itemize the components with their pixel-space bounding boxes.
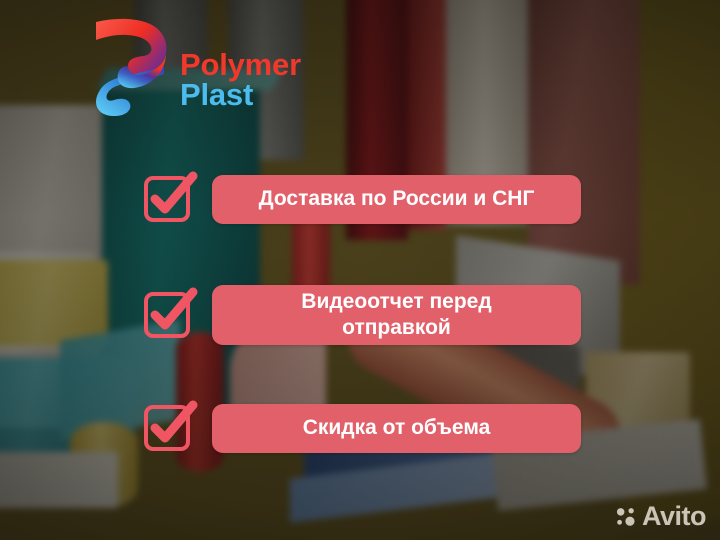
- feature-badge-line: отправкой: [301, 315, 491, 341]
- brand-wordmark: Polymer Plast: [180, 50, 301, 111]
- feature-badge-line: Видеоотчет перед: [301, 289, 491, 315]
- listing-image: Polymer Plast Доставка по России и СНГ В…: [0, 0, 720, 540]
- feature-badge-line: Скидка от объема: [303, 415, 491, 441]
- brand-line-1: Polymer: [180, 50, 301, 80]
- avito-dots-icon: [615, 506, 637, 528]
- polymer-plast-logo-icon: [88, 16, 174, 120]
- brand-logo: Polymer Plast: [88, 16, 301, 120]
- feature-badge: Скидка от объема: [212, 404, 581, 453]
- avito-watermark: Avito: [615, 503, 706, 530]
- checkbox-checked-icon: [143, 174, 193, 224]
- feature-badge: Доставка по России и СНГ: [212, 175, 581, 224]
- feature-row: Скидка от объема: [143, 403, 581, 453]
- feature-row: Видеоотчет перед отправкой: [143, 285, 581, 345]
- feature-row: Доставка по России и СНГ: [143, 174, 581, 224]
- checkbox-checked-icon: [143, 290, 193, 340]
- avito-wordmark: Avito: [642, 503, 706, 530]
- feature-badge: Видеоотчет перед отправкой: [212, 285, 581, 345]
- checkbox-checked-icon: [143, 403, 193, 453]
- feature-badge-line: Доставка по России и СНГ: [259, 186, 535, 212]
- brand-line-2: Plast: [180, 80, 301, 110]
